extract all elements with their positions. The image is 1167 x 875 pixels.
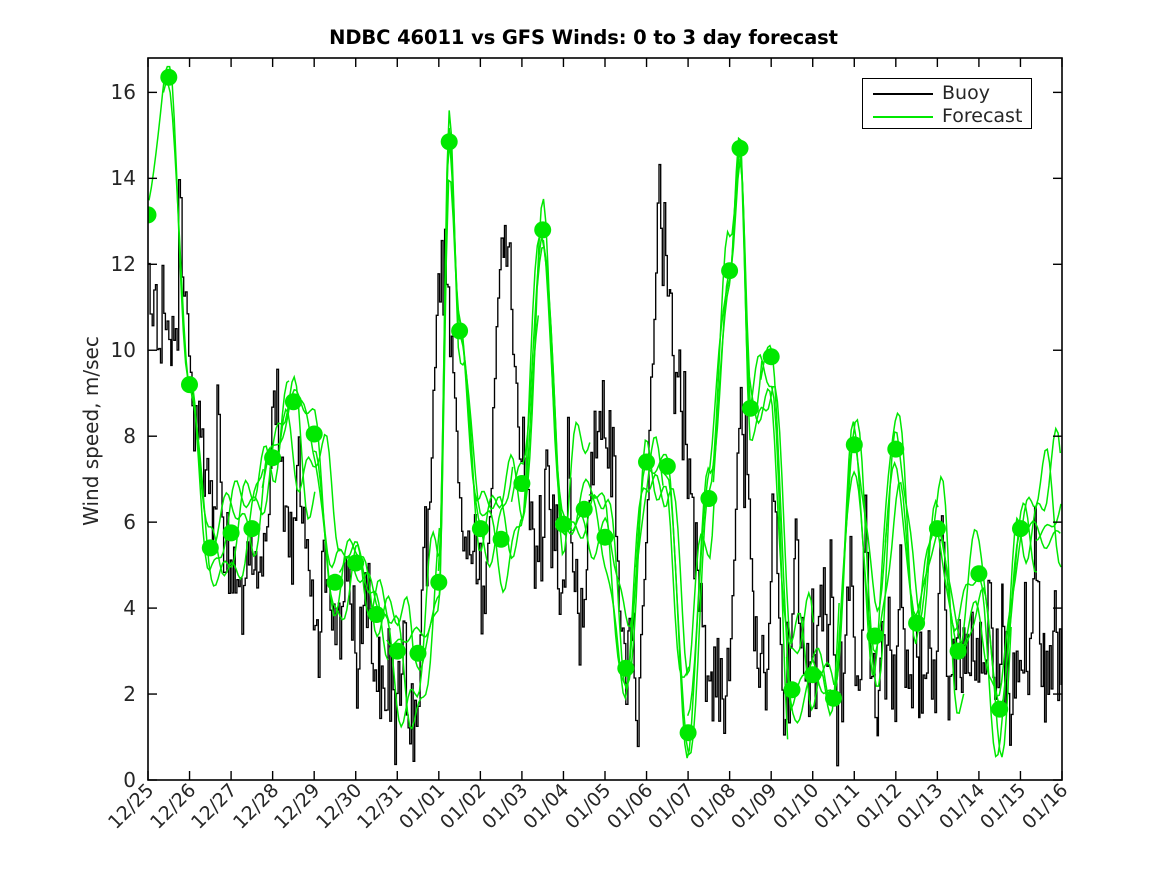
forecast-marker-dot — [451, 322, 468, 339]
forecast-marker-dot — [597, 529, 614, 546]
forecast-marker-dot — [742, 400, 759, 417]
forecast-marker-dot — [306, 426, 323, 443]
forecast-marker-dot — [804, 666, 821, 683]
forecast-marker-dot — [285, 393, 302, 410]
legend-swatch-forecast — [873, 116, 933, 118]
forecast-marker-dot — [784, 681, 801, 698]
buoy-series-line — [148, 165, 1061, 766]
forecast-marker-dot — [721, 262, 738, 279]
forecast-marker-dot — [202, 539, 219, 556]
forecast-marker-dot — [243, 520, 260, 537]
forecast-marker-dot — [534, 221, 551, 238]
forecast-marker-dot — [991, 701, 1008, 718]
forecast-marker-dot — [908, 615, 925, 632]
forecast-marker-dot — [223, 524, 240, 541]
forecast-marker-dot — [513, 475, 530, 492]
forecast-marker-dot — [441, 133, 458, 150]
legend-swatch-buoy — [873, 93, 933, 95]
chart-figure: NDBC 46011 vs GFS Winds: 0 to 3 day fore… — [0, 0, 1167, 875]
legend-item-buoy: Buoy — [863, 81, 1033, 106]
forecast-marker-dot — [347, 555, 364, 572]
forecast-marker-dot — [659, 458, 676, 475]
forecast-series-line — [413, 128, 539, 670]
chart-legend: Buoy Forecast — [862, 78, 1032, 129]
forecast-marker-dot — [617, 660, 634, 677]
forecast-marker-dot — [555, 516, 572, 533]
forecast-marker-dot — [368, 606, 385, 623]
forecast-marker-dot — [887, 441, 904, 458]
plot-canvas — [0, 0, 1167, 875]
forecast-marker-dot — [929, 520, 946, 537]
forecast-marker-dot — [846, 436, 863, 453]
forecast-marker-dot — [732, 140, 749, 157]
legend-item-forecast: Forecast — [863, 104, 1033, 129]
forecast-marker-dot — [680, 724, 697, 741]
forecast-series-line — [387, 180, 513, 645]
forecast-marker-dot — [410, 645, 427, 662]
forecast-marker-dot — [950, 643, 967, 660]
forecast-series-line — [340, 110, 466, 726]
forecast-marker-dot — [181, 376, 198, 393]
forecast-marker-dot — [700, 490, 717, 507]
forecast-marker-dot — [867, 628, 884, 645]
forecast-series-line — [149, 67, 263, 579]
forecast-marker-dot — [493, 531, 510, 548]
forecast-marker-dot — [430, 574, 447, 591]
forecast-series-line — [636, 156, 762, 755]
forecast-marker-dot — [638, 454, 655, 471]
forecast-marker-dot — [327, 574, 344, 591]
forecast-marker-dot — [576, 501, 593, 518]
forecast-marker-dot — [160, 69, 177, 86]
forecast-marker-dot — [763, 348, 780, 365]
forecast-marker-dot — [825, 690, 842, 707]
forecast-marker-dot — [1012, 520, 1029, 537]
forecast-marker-dot — [970, 565, 987, 582]
forecast-marker-dot — [389, 643, 406, 660]
forecast-marker-dot — [472, 520, 489, 537]
forecast-marker-dot — [264, 449, 281, 466]
legend-label-buoy: Buoy — [942, 84, 990, 103]
legend-label-forecast: Forecast — [942, 107, 1022, 126]
